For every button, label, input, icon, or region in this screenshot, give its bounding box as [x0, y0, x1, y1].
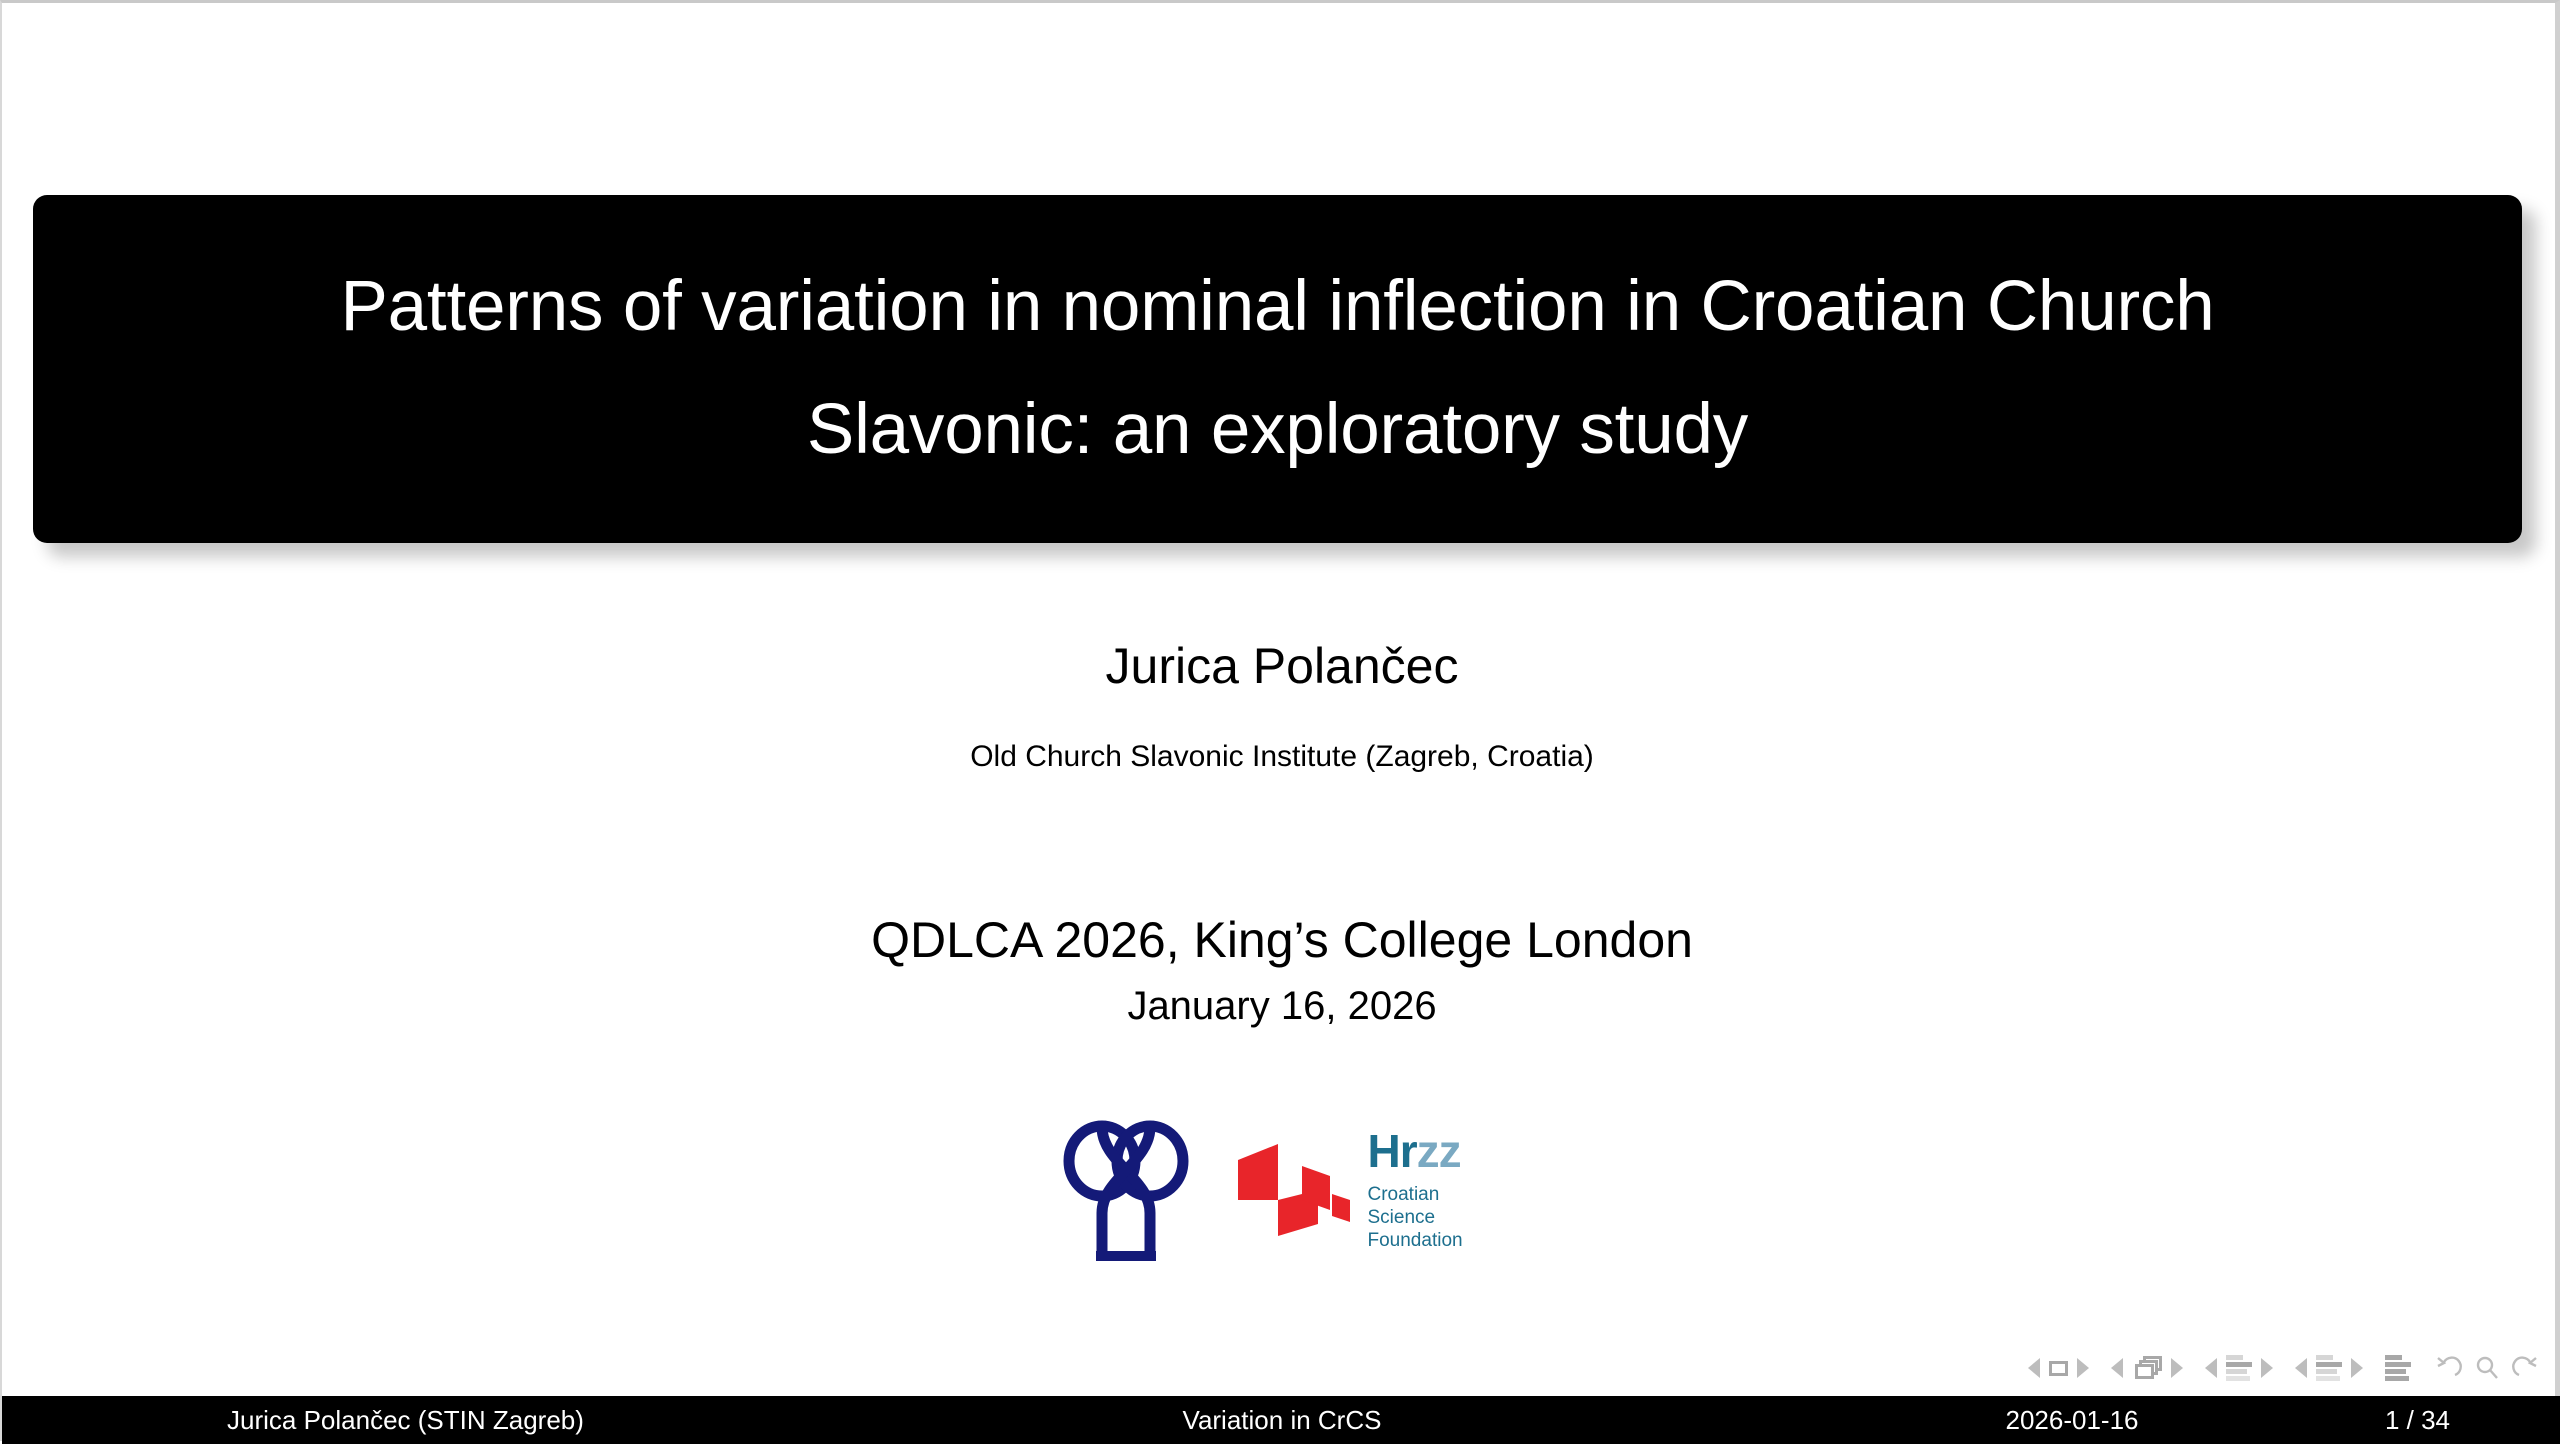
subsection-icon[interactable]: [2226, 1355, 2252, 1381]
hrzz-logo: Hrzz Croatian Science Foundation: [1232, 1128, 1503, 1253]
hrzz-letters-light: zz: [1417, 1125, 1461, 1177]
venue-date: January 16, 2026: [2, 984, 2560, 1028]
beamer-navigation-bar[interactable]: [2028, 1351, 2541, 1385]
author-affiliation: Old Church Slavonic Institute (Zagreb, C…: [2, 740, 2560, 773]
next-slide-icon[interactable]: [2077, 1358, 2089, 1378]
hrzz-subtitle: Croatian Science Foundation: [1368, 1183, 1503, 1253]
forward-icon[interactable]: [2511, 1353, 2541, 1383]
prev-section-icon[interactable]: [2295, 1358, 2307, 1378]
all-sections-icon[interactable]: [2385, 1355, 2411, 1381]
venue-block: QDLCA 2026, King’s College London Januar…: [2, 913, 2560, 1028]
back-icon[interactable]: [2433, 1353, 2463, 1383]
nav-group-all-sections: [2385, 1355, 2411, 1381]
footer-date: 2026-01-16: [792, 1405, 2560, 1436]
next-section-icon[interactable]: [2351, 1358, 2363, 1378]
slide-icon[interactable]: [2049, 1361, 2068, 1376]
old-church-slavonic-institute-logo: [1062, 1117, 1190, 1263]
nav-group-history: [2433, 1353, 2541, 1383]
footer-bar: Jurica Polančec (STIN Zagreb) Variation …: [2, 1396, 2560, 1444]
hrzz-mark-icon: [1232, 1138, 1352, 1242]
slide-title-line-2: Slavonic: an exploratory study: [807, 393, 1748, 468]
author-name: Jurica Polančec: [2, 639, 2560, 694]
next-subsection-icon[interactable]: [2261, 1358, 2273, 1378]
title-block: Patterns of variation in nominal inflect…: [33, 195, 2522, 543]
section-icon[interactable]: [2316, 1355, 2342, 1381]
hrzz-wordmark: Hrzz Croatian Science Foundation: [1368, 1128, 1503, 1253]
footer-page-number: 1 / 34: [2385, 1405, 2450, 1436]
prev-frame-icon[interactable]: [2111, 1358, 2123, 1378]
prev-subsection-icon[interactable]: [2205, 1358, 2217, 1378]
nav-group-section: [2295, 1355, 2363, 1381]
logo-row: Hrzz Croatian Science Foundation: [2, 1115, 2560, 1265]
prev-slide-icon[interactable]: [2028, 1358, 2040, 1378]
slide-title-line-1: Patterns of variation in nominal inflect…: [340, 270, 2214, 345]
nav-group-frame: [2111, 1356, 2183, 1380]
search-icon[interactable]: [2472, 1353, 2502, 1383]
hrzz-letters-dark: Hr: [1368, 1125, 1417, 1177]
slide-page: Patterns of variation in nominal inflect…: [0, 0, 2560, 1441]
author-block: Jurica Polančec Old Church Slavonic Inst…: [2, 639, 2560, 773]
hrzz-letters: Hrzz: [1368, 1128, 1503, 1174]
next-frame-icon[interactable]: [2171, 1358, 2183, 1378]
venue-name: QDLCA 2026, King’s College London: [2, 913, 2560, 968]
frames-icon[interactable]: [2132, 1356, 2162, 1380]
nav-group-slide: [2028, 1358, 2089, 1378]
nav-group-subsection: [2205, 1355, 2273, 1381]
